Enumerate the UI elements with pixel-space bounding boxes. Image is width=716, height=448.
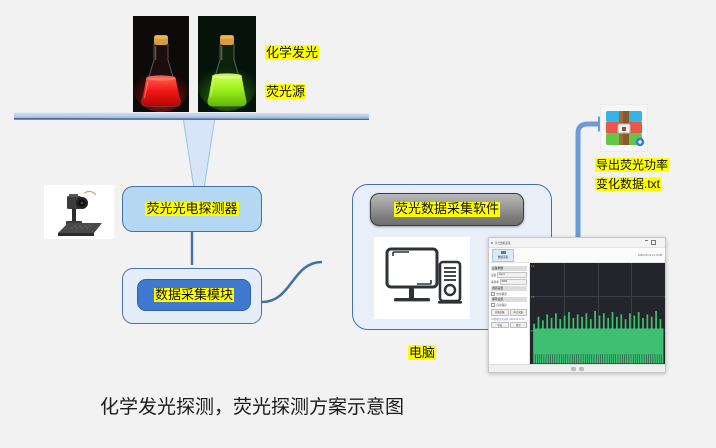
sidebar-control-buttons[interactable]: 开始采集 停止采集 <box>491 309 527 316</box>
sidebar-save-label: 自动保存 <box>496 303 506 307</box>
fluorescence-software-badge-label: 荧光数据采集软件 <box>394 202 500 217</box>
sidebar-save-row[interactable]: 自动保存 <box>491 303 527 307</box>
photodetector-photo <box>44 185 114 239</box>
window-body: 设备参数 设备 Dev1 采样率 5000 通道设置 启用通道 保存设置 自动 <box>489 263 665 373</box>
window-ribbon: 数据采集 2023-06-12 21:13:28 <box>489 248 665 263</box>
fluorescence-source-label-text: 荧光源 <box>265 84 306 99</box>
data-acquisition-module-box[interactable]: 数据采集模块 <box>122 268 262 324</box>
fluorescence-photodetector-box-label: 荧光光电探测器 <box>145 202 238 217</box>
window-app-icon <box>491 242 493 244</box>
sidebar-export-buttons[interactable]: 导出 清空 <box>491 322 527 329</box>
export-file-label-line1: 导出荧光功率 <box>595 158 669 172</box>
diagram-canvas: 化学发光 荧光源 <box>0 0 716 448</box>
chemiluminescence-flask-photo <box>133 16 189 112</box>
winrar-archive-icon[interactable] <box>600 104 648 152</box>
close-icon[interactable] <box>659 240 662 243</box>
fluorescence-photodetector-box[interactable]: 荧光光电探测器 <box>122 186 262 232</box>
taskbar-item[interactable] <box>579 367 584 371</box>
window-title-bar: 荧光数据采集 <box>489 238 665 248</box>
sidebar-clear-button[interactable]: 清空 <box>510 322 528 329</box>
minimize-icon[interactable] <box>645 240 648 244</box>
sidebar-device-select[interactable]: Dev1 <box>497 272 527 278</box>
chemiluminescence-label-text: 化学发光 <box>265 45 319 60</box>
maximize-icon[interactable] <box>651 240 656 245</box>
sidebar-section-device: 设备参数 <box>491 266 527 271</box>
ribbon-collect-button[interactable]: 数据采集 <box>492 249 514 262</box>
sidebar-rate-input[interactable]: 5000 <box>500 279 527 285</box>
sidebar-channel-label: 启用通道 <box>496 292 506 296</box>
desktop-computer-icon <box>374 237 470 319</box>
window-controls[interactable] <box>645 240 662 245</box>
window-taskbar[interactable] <box>489 364 665 372</box>
fluorescence-source-label: 荧光源 <box>265 83 306 101</box>
export-file-label: 导出荧光功率 变化数据.txt <box>595 156 669 193</box>
ribbon-collect-label: 数据采集 <box>498 255 508 259</box>
sidebar-device-label: 设备 <box>491 273 496 277</box>
sidebar-channel-checkbox[interactable] <box>491 292 495 296</box>
sidebar-save-checkbox[interactable] <box>491 303 495 307</box>
data-acquisition-module-inner: 数据采集模块 <box>137 279 251 311</box>
computer-caption-label: 电脑 <box>408 345 436 360</box>
sidebar-rate-label: 采样率 <box>491 280 499 284</box>
window-timestamp: 2023-06-12 21:13:28 <box>638 254 662 257</box>
chart-ytick-0: 1.0 <box>531 265 534 268</box>
computer-caption: 电脑 <box>408 344 436 362</box>
sidebar-section-save: 保存设置 <box>491 297 527 302</box>
export-file-label-line2: 变化数据.txt <box>595 177 661 191</box>
data-acquisition-module-label: 数据采集模块 <box>154 288 234 303</box>
sidebar-channel-row[interactable]: 启用通道 <box>491 292 527 296</box>
window-sidebar: 设备参数 设备 Dev1 采样率 5000 通道设置 启用通道 保存设置 自动 <box>489 263 530 373</box>
chart-ytick-1: 0.5 <box>531 296 534 299</box>
sidebar-device-row[interactable]: 设备 Dev1 <box>491 272 527 278</box>
sidebar-export-button[interactable]: 导出 <box>491 322 509 329</box>
sidebar-section-channel: 通道设置 <box>491 286 527 291</box>
taskbar-item[interactable] <box>571 367 576 371</box>
sidebar-file-path: D:\数据\荧光功率_2023-06-12.txt <box>491 317 527 321</box>
daq-software-window[interactable]: 荧光数据采集 数据采集 2023-06-12 21:13:28 设备参数 设备 … <box>488 237 666 373</box>
fluorescence-flask-photo <box>198 16 256 112</box>
sidebar-start-button[interactable]: 开始采集 <box>491 309 509 316</box>
figure-caption: 化学发光探测，荧光探测方案示意图 <box>100 392 404 419</box>
collect-icon <box>501 251 506 254</box>
chart-ytick-2: 0.0 <box>531 330 534 333</box>
chemiluminescence-label: 化学发光 <box>265 44 319 62</box>
window-title-text: 荧光数据采集 <box>495 241 511 245</box>
fluorescence-software-badge[interactable]: 荧光数据采集软件 <box>370 193 524 226</box>
sidebar-rate-row[interactable]: 采样率 5000 <box>491 279 527 285</box>
waveform-chart[interactable]: 1.0 0.5 0.0 0 5 10 15 <box>530 263 665 373</box>
sidebar-stop-button[interactable]: 停止采集 <box>510 309 528 316</box>
